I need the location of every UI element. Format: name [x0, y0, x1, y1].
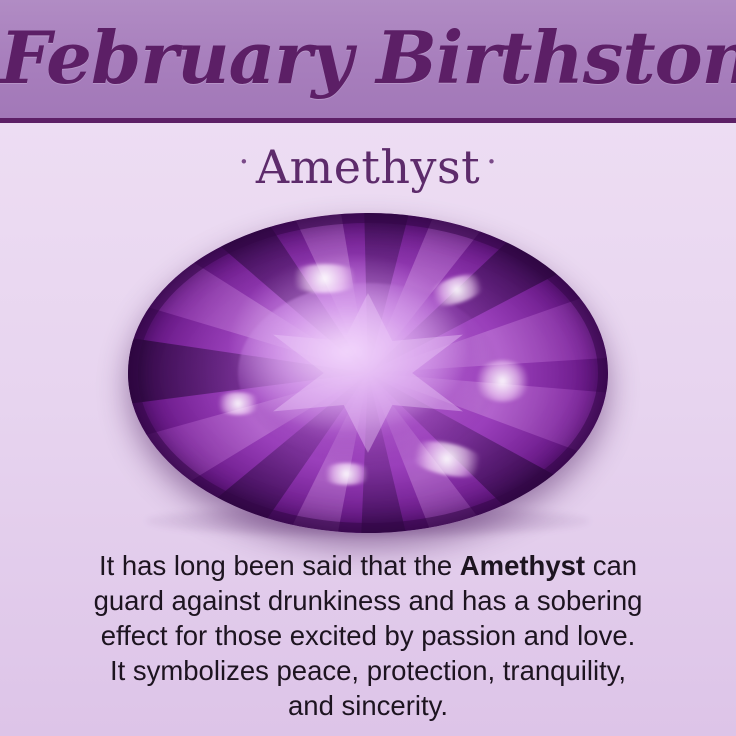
description-keyword: Amethyst — [460, 550, 585, 581]
gemstone-image — [118, 208, 618, 538]
subtitle-row: ·Amethyst· — [0, 132, 736, 197]
description-line-2: guard against drunkiness and has a sober… — [94, 585, 643, 616]
description-line-1b: can — [585, 550, 637, 581]
description-line-4: It symbolizes peace, protection, tranqui… — [110, 655, 626, 686]
subtitle: ·Amethyst· — [233, 132, 504, 197]
amethyst-gemstone — [128, 213, 608, 533]
header-divider — [0, 118, 736, 123]
gem-girdle-rim — [128, 213, 608, 533]
subtitle-left-dot: · — [233, 142, 256, 182]
description-text: It has long been said that the Amethyst … — [26, 548, 710, 723]
description-line-1a: It has long been said that the — [99, 550, 460, 581]
subtitle-right-dot: · — [480, 142, 503, 182]
description-line-3: effect for those excited by passion and … — [101, 620, 636, 651]
subtitle-text: Amethyst — [256, 140, 480, 194]
description-line-5: and sincerity. — [288, 690, 448, 721]
page-title: February Birthstone — [0, 6, 736, 110]
birthstone-poster: February Birthstone ·Amethyst· — [0, 0, 736, 736]
